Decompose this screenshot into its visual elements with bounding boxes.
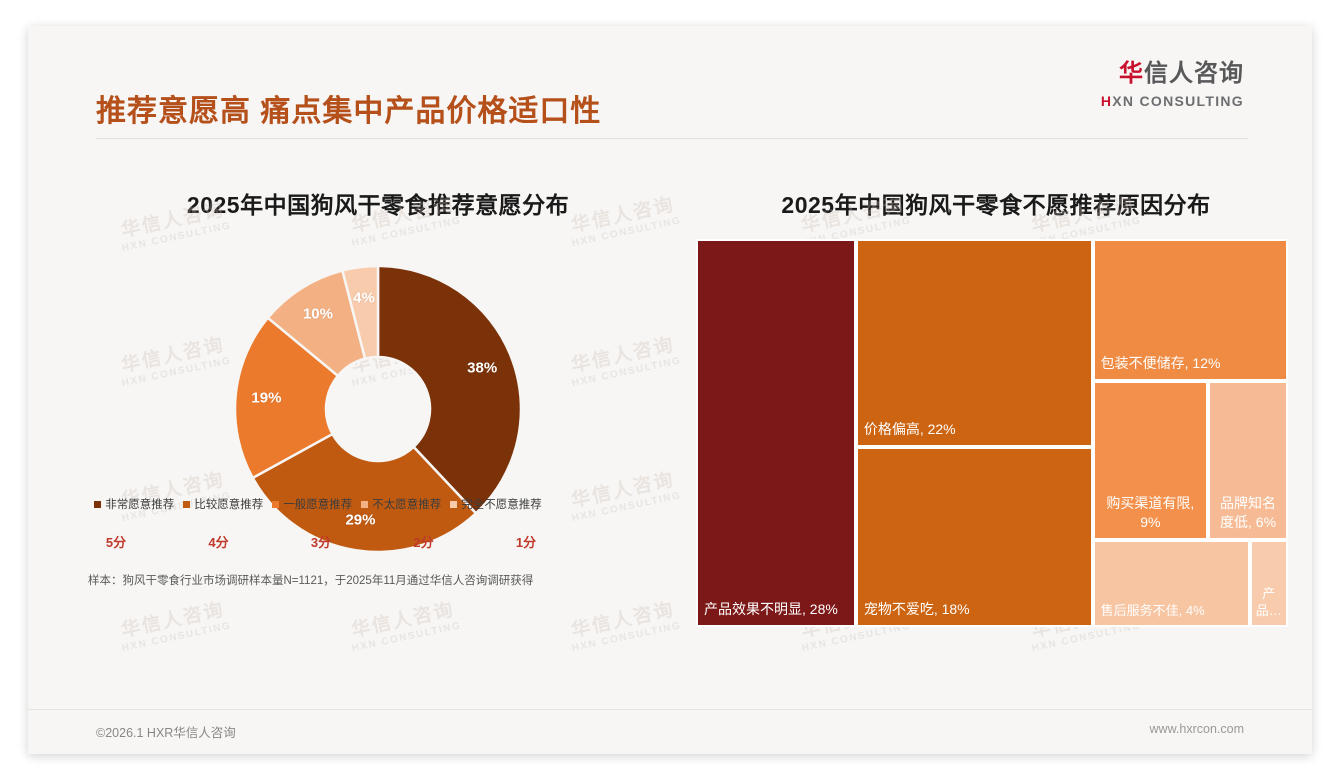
treemap-cell[interactable]: 产品… — [1250, 540, 1288, 627]
legend-label: 完全不愿意推荐 — [461, 496, 542, 512]
donut-svg — [128, 239, 628, 579]
left-chart-title: 2025年中国狗风干零食推荐意愿分布 — [68, 186, 688, 220]
treemap-cell[interactable]: 产品效果不明显, 28% — [696, 239, 856, 627]
donut-slice-label: 4% — [353, 289, 375, 306]
treemap-cell-label: 包装不便储存, 12% — [1101, 354, 1282, 373]
right-chart-title: 2025年中国狗风干零食不愿推荐原因分布 — [696, 186, 1296, 220]
legend-item[interactable]: 比较愿意推荐 — [183, 496, 263, 512]
company-logo: 华信人咨询 HXN CONSULTING — [1101, 60, 1244, 111]
treemap-cell-label: 产品效果不明显, 28% — [704, 600, 850, 619]
treemap-cell[interactable]: 价格偏高, 22% — [856, 239, 1093, 447]
logo-chinese: 华信人咨询 — [1101, 60, 1244, 88]
page-title: 推荐意愿高 痛点集中产品价格适口性 — [96, 86, 601, 130]
logo-english-accent: H — [1101, 93, 1112, 109]
legend-swatch-icon — [183, 501, 190, 508]
sample-note: 样本：狗风干零食行业市场调研样本量N=1121，于2025年11月通过华信人咨询… — [88, 572, 668, 588]
legend-item[interactable]: 完全不愿意推荐 — [450, 496, 542, 512]
treemap-cell-label: 宠物不爱吃, 18% — [864, 600, 1087, 619]
header-divider — [96, 138, 1248, 139]
donut-chart: 38%29%19%10%4% — [128, 239, 628, 719]
copyright-text: ©2026.1 HXR华信人咨询 — [96, 722, 236, 741]
logo-english-rest: XN CONSULTING — [1112, 93, 1244, 109]
treemap-cell-label: 售后服务不佳, 4% — [1101, 602, 1244, 619]
score-label: 5分 — [86, 532, 146, 551]
logo-chinese-rest: 信人咨询 — [1144, 60, 1244, 87]
score-scale: 5分4分3分2分1分 — [86, 532, 556, 551]
legend-item[interactable]: 一般愿意推荐 — [272, 496, 352, 512]
logo-chinese-accent: 华 — [1119, 60, 1144, 87]
legend-item[interactable]: 不太愿意推荐 — [361, 496, 441, 512]
slide-canvas: 推荐意愿高 痛点集中产品价格适口性 华信人咨询 HXN CONSULTING 华… — [28, 26, 1312, 754]
legend-label: 非常愿意推荐 — [105, 496, 174, 512]
legend-swatch-icon — [361, 501, 368, 508]
legend-swatch-icon — [94, 501, 101, 508]
treemap-cell-label: 产品… — [1255, 585, 1283, 619]
donut-slice-label: 29% — [345, 511, 375, 528]
legend-item[interactable]: 非常愿意推荐 — [94, 496, 174, 512]
treemap-chart: 产品效果不明显, 28%价格偏高, 22%宠物不爱吃, 18%包装不便储存, 1… — [696, 239, 1288, 627]
logo-english: HXN CONSULTING — [1101, 91, 1244, 111]
donut-legend: 非常愿意推荐比较愿意推荐一般愿意推荐不太愿意推荐完全不愿意推荐 — [68, 496, 568, 512]
panel-recommendation-willingness: 2025年中国狗风干零食推荐意愿分布 38%29%19%10%4% 非常愿意推荐… — [68, 144, 688, 704]
treemap-cell[interactable]: 购买渠道有限, 9% — [1093, 381, 1208, 540]
score-label: 3分 — [291, 532, 351, 551]
legend-label: 一般愿意推荐 — [283, 496, 352, 512]
donut-slice-label: 38% — [467, 359, 497, 376]
treemap-cell[interactable]: 宠物不爱吃, 18% — [856, 447, 1093, 627]
score-label: 4分 — [189, 532, 249, 551]
treemap-cell-label: 购买渠道有限, 9% — [1098, 494, 1203, 532]
donut-slice-label: 10% — [303, 306, 333, 323]
legend-label: 比较愿意推荐 — [194, 496, 263, 512]
slide-header: 推荐意愿高 痛点集中产品价格适口性 华信人咨询 HXN CONSULTING — [28, 26, 1312, 129]
treemap-cell-label: 价格偏高, 22% — [864, 420, 1087, 439]
treemap-cell[interactable]: 包装不便储存, 12% — [1093, 239, 1288, 381]
treemap-cell[interactable]: 售后服务不佳, 4% — [1093, 540, 1250, 627]
website-link[interactable]: www.hxrcon.com — [1150, 722, 1244, 736]
donut-slice-label: 19% — [251, 390, 281, 407]
legend-swatch-icon — [272, 501, 279, 508]
treemap-cell[interactable]: 品牌知名度低, 6% — [1208, 381, 1288, 540]
legend-swatch-icon — [450, 501, 457, 508]
score-label: 1分 — [496, 532, 556, 551]
treemap-cell-label: 品牌知名度低, 6% — [1213, 494, 1283, 532]
score-label: 2分 — [394, 532, 454, 551]
panel-refusal-reasons: 2025年中国狗风干零食不愿推荐原因分布 产品效果不明显, 28%价格偏高, 2… — [696, 144, 1296, 704]
legend-label: 不太愿意推荐 — [372, 496, 441, 512]
